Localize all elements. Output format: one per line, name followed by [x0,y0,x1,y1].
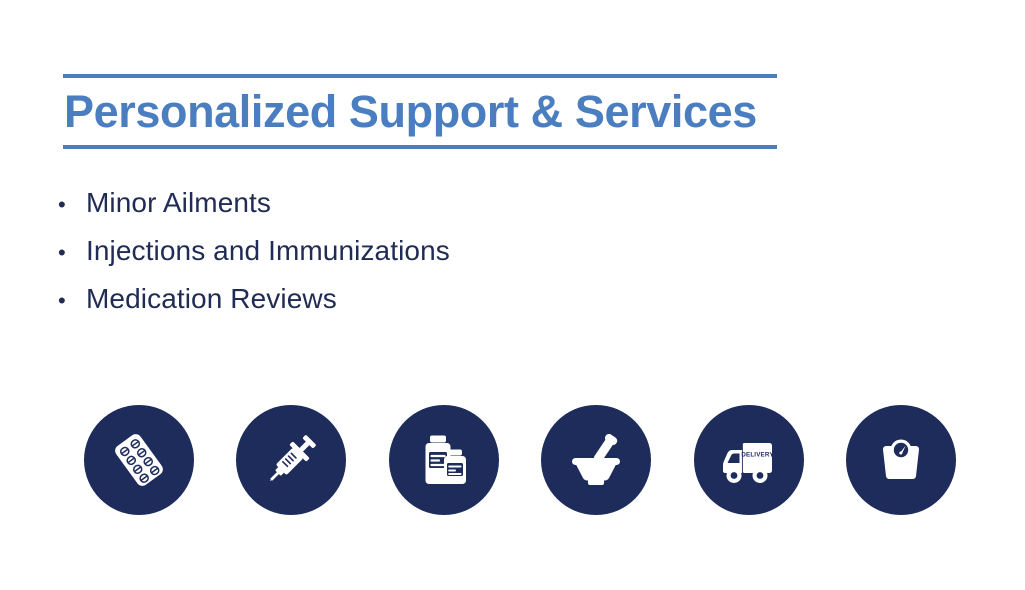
list-item: • Minor Ailments [52,180,752,228]
slide-canvas: Personalized Support & Services • Minor … [0,0,1025,590]
title-rule-bottom [63,145,777,149]
list-item: • Medication Reviews [52,276,752,324]
list-item-label: Minor Ailments [86,180,271,226]
icon-badge-weight-scale [846,405,956,515]
weight-scale-icon [869,428,933,492]
services-bullet-list: • Minor Ailments • Injections and Immuni… [52,180,752,324]
syringe-icon [259,428,323,492]
icon-badge-pill-bottles [389,405,499,515]
blister-pack-icon [107,428,171,492]
mortar-and-pestle-icon [564,428,628,492]
icon-row: DELIVERY [84,404,956,516]
icon-badge-delivery-truck: DELIVERY [694,405,804,515]
page-title: Personalized Support & Services [63,78,777,145]
icon-badge-syringe [236,405,346,515]
bullet-dot-icon: • [52,278,86,324]
pill-bottles-icon [412,428,476,492]
bullet-dot-icon: • [52,182,86,228]
delivery-truck-icon: DELIVERY [717,428,781,492]
list-item-label: Medication Reviews [86,276,337,322]
title-block: Personalized Support & Services [63,74,777,149]
list-item-label: Injections and Immunizations [86,228,450,274]
bullet-dot-icon: • [52,230,86,276]
truck-side-text: DELIVERY [741,452,774,459]
icon-badge-mortar-pestle [541,405,651,515]
list-item: • Injections and Immunizations [52,228,752,276]
icon-badge-blister-pack [84,405,194,515]
